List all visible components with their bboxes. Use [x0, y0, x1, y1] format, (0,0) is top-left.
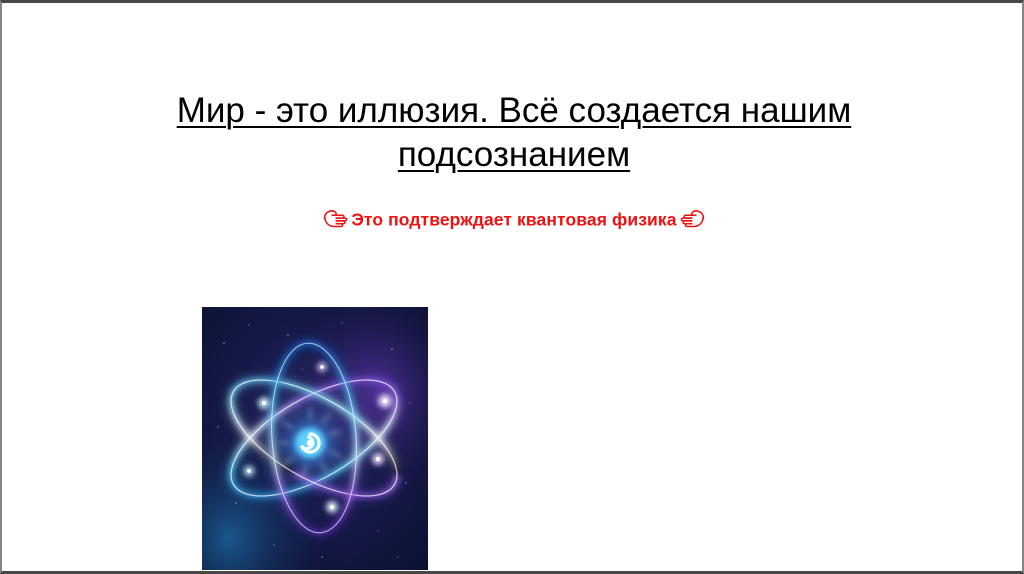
subtitle: Это подтверждает квантовая физика [82, 208, 946, 232]
title-line-2: подсознанием [82, 133, 946, 177]
subtitle-text: Это подтверждает квантовая физика [351, 210, 676, 230]
pointing-hand-right-icon [321, 207, 351, 231]
title-line-1: Мир - это иллюзия. Всё создается нашим [82, 89, 946, 133]
title-line-1-text: Мир - это иллюзия. Всё создается нашим [177, 91, 852, 130]
pointing-hand-left-icon [677, 207, 707, 231]
atom-illustration [202, 307, 428, 570]
page-title: Мир - это иллюзия. Всё создается нашим п… [82, 89, 946, 177]
title-line-2-text: подсознанием [398, 135, 630, 174]
presentation-slide: Мир - это иллюзия. Всё создается нашим п… [0, 0, 1024, 574]
